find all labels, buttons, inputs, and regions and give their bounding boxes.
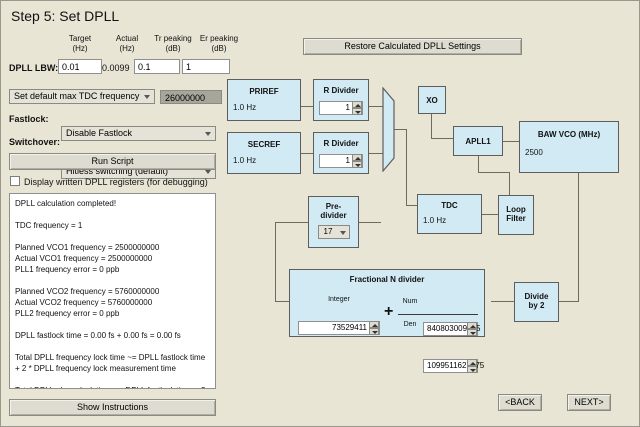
block-fractional-n-divider[interactable]: Fractional N divider Integer 73529411 + … xyxy=(289,269,485,337)
fastlock-value: Disable Fastlock xyxy=(66,128,132,138)
divide-by-2-title-line1: Divide xyxy=(515,292,558,301)
chevron-down-icon xyxy=(205,170,211,174)
wire-into-divide2 xyxy=(559,301,579,302)
r-divider-secondary-title: R Divider xyxy=(314,139,368,148)
pre-divider-title-line2: divider xyxy=(309,211,358,220)
wire-apll1-loopfilter-top xyxy=(478,172,510,173)
wire-tdc-loopfilter xyxy=(482,214,498,215)
integer-input[interactable]: 73529411 xyxy=(298,321,380,335)
denominator-input[interactable]: 1099511627775 xyxy=(423,359,478,373)
num-label: Num xyxy=(398,298,422,305)
wire-xo-apll1 xyxy=(431,138,453,139)
spinner-down-icon[interactable] xyxy=(369,328,379,335)
wire-mux-down xyxy=(406,129,407,205)
block-pre-divider[interactable]: Pre- divider 17 xyxy=(308,196,359,248)
block-divide-by-2[interactable]: Divide by 2 xyxy=(514,282,559,322)
reference-mux[interactable] xyxy=(382,87,395,172)
wire-divide2-fracn xyxy=(491,301,514,302)
block-r-divider-secondary[interactable]: R Divider 1 xyxy=(313,132,369,174)
spinner-up-icon[interactable] xyxy=(352,154,362,161)
spinner-down-icon[interactable] xyxy=(352,108,362,115)
wire-xo-down xyxy=(431,114,432,138)
dpll-wizard-window: Step 5: Set DPLL Target (Hz) Actual (Hz)… xyxy=(0,0,640,427)
spinner-down-icon[interactable] xyxy=(352,161,362,168)
secref-title: SECREF xyxy=(228,140,300,149)
wire-rdiv-mux-top xyxy=(368,106,383,107)
spinner-up-icon[interactable] xyxy=(467,322,477,329)
back-button[interactable]: <BACK xyxy=(498,394,542,411)
wire-secref-rdiv xyxy=(301,153,313,154)
secref-frequency: 1.0 Hz xyxy=(228,156,300,165)
page-title: Step 5: Set DPLL xyxy=(11,8,119,24)
divide-by-2-title-line2: by 2 xyxy=(515,301,558,310)
checkbox-icon[interactable] xyxy=(10,176,20,186)
apll1-title: APLL1 xyxy=(454,137,502,146)
switchover-label: Switchover: xyxy=(9,137,60,147)
tdc-mode-dropdown[interactable]: Set default max TDC frequency xyxy=(9,89,155,104)
column-header-actual: Actual (Hz) xyxy=(105,34,149,54)
wire-bawvco-down xyxy=(578,173,579,301)
column-header-er-peaking: Er peaking (dB) xyxy=(195,34,243,54)
block-loop-filter[interactable]: Loop Filter xyxy=(498,195,534,235)
tdc-frequency: 1.0 Hz xyxy=(418,216,481,225)
plus-sign: + xyxy=(384,304,393,320)
chevron-down-icon xyxy=(144,95,150,99)
debug-checkbox-row[interactable]: Display written DPLL registers (for debu… xyxy=(10,176,208,187)
wire-apll1-down xyxy=(478,156,479,172)
r-divider-secondary-input[interactable]: 1 xyxy=(319,154,363,168)
dpll-lbw-row-label: DPLL LBW: xyxy=(9,63,58,73)
pre-divider-dropdown[interactable]: 17 xyxy=(318,225,350,239)
debug-checkbox-label: Display written DPLL registers (for debu… xyxy=(24,177,208,187)
next-button[interactable]: NEXT> xyxy=(567,394,611,411)
lbw-er-peaking-input[interactable]: 1 xyxy=(182,59,230,74)
integer-label: Integer xyxy=(304,296,374,303)
block-xo[interactable]: XO xyxy=(418,86,446,114)
lbw-actual-value: 0.0099 xyxy=(102,63,130,73)
wire-rdiv-mux-bottom xyxy=(368,153,383,154)
baw-vco-title: BAW VCO (MHz) xyxy=(520,130,618,139)
wire-fracn-left xyxy=(275,301,289,302)
lbw-target-input[interactable]: 0.01 xyxy=(58,59,102,74)
spinner-up-icon[interactable] xyxy=(369,321,379,328)
column-header-tr-peaking: Tr peaking (dB) xyxy=(149,34,197,54)
wire-into-tdc xyxy=(406,205,417,206)
priref-title: PRIREF xyxy=(228,87,300,96)
wire-priref-rdiv xyxy=(301,106,313,107)
block-secref[interactable]: SECREF 1.0 Hz xyxy=(227,132,301,174)
pre-divider-title-line1: Pre- xyxy=(309,202,358,211)
wire-fracn-up xyxy=(275,222,276,302)
block-priref[interactable]: PRIREF 1.0 Hz xyxy=(227,79,301,121)
tdc-frequency-readout: 26000000 xyxy=(160,90,222,104)
wire-apll1-bawvco xyxy=(503,141,519,142)
r-divider-primary-input[interactable]: 1 xyxy=(319,101,363,115)
numerator-input[interactable]: 840803009475 xyxy=(423,322,478,336)
run-script-button[interactable]: Run Script xyxy=(9,153,216,170)
column-header-target: Target (Hz) xyxy=(57,34,103,54)
calculation-log: DPLL calculation completed! TDC frequenc… xyxy=(9,193,216,389)
block-tdc[interactable]: TDC 1.0 Hz xyxy=(417,194,482,234)
restore-settings-button[interactable]: Restore Calculated DPLL Settings xyxy=(303,38,522,55)
r-divider-primary-title: R Divider xyxy=(314,86,368,95)
wire-to-loopfilter xyxy=(509,172,510,195)
tdc-mode-label: Set default max TDC frequency xyxy=(14,91,139,101)
mux-shape-icon xyxy=(382,87,395,172)
block-apll1[interactable]: APLL1 xyxy=(453,126,503,156)
spinner-down-icon[interactable] xyxy=(467,329,477,336)
den-label: Den xyxy=(398,321,422,328)
fastlock-label: Fastlock: xyxy=(9,114,49,124)
chevron-down-icon xyxy=(205,132,211,136)
lbw-tr-peaking-input[interactable]: 0.1 xyxy=(134,59,180,74)
fastlock-dropdown[interactable]: Disable Fastlock xyxy=(61,126,216,141)
loop-filter-title-line1: Loop xyxy=(499,205,533,214)
loop-filter-title-line2: Filter xyxy=(499,214,533,223)
spinner-up-icon[interactable] xyxy=(352,101,362,108)
baw-vco-frequency: 2500 xyxy=(520,148,618,157)
block-baw-vco[interactable]: BAW VCO (MHz) 2500 xyxy=(519,121,619,173)
chevron-down-icon xyxy=(340,231,346,235)
spinner-up-icon[interactable] xyxy=(467,359,477,366)
tdc-title: TDC xyxy=(418,201,481,210)
wire-into-predivider xyxy=(275,222,308,223)
priref-frequency: 1.0 Hz xyxy=(228,103,300,112)
show-instructions-button[interactable]: Show Instructions xyxy=(9,399,216,416)
block-r-divider-primary[interactable]: R Divider 1 xyxy=(313,79,369,121)
spinner-down-icon[interactable] xyxy=(467,366,477,373)
xo-title: XO xyxy=(419,96,445,105)
fraction-bar xyxy=(398,314,478,315)
fractional-n-title: Fractional N divider xyxy=(290,275,484,284)
wire-predivider-tdc xyxy=(359,222,381,223)
